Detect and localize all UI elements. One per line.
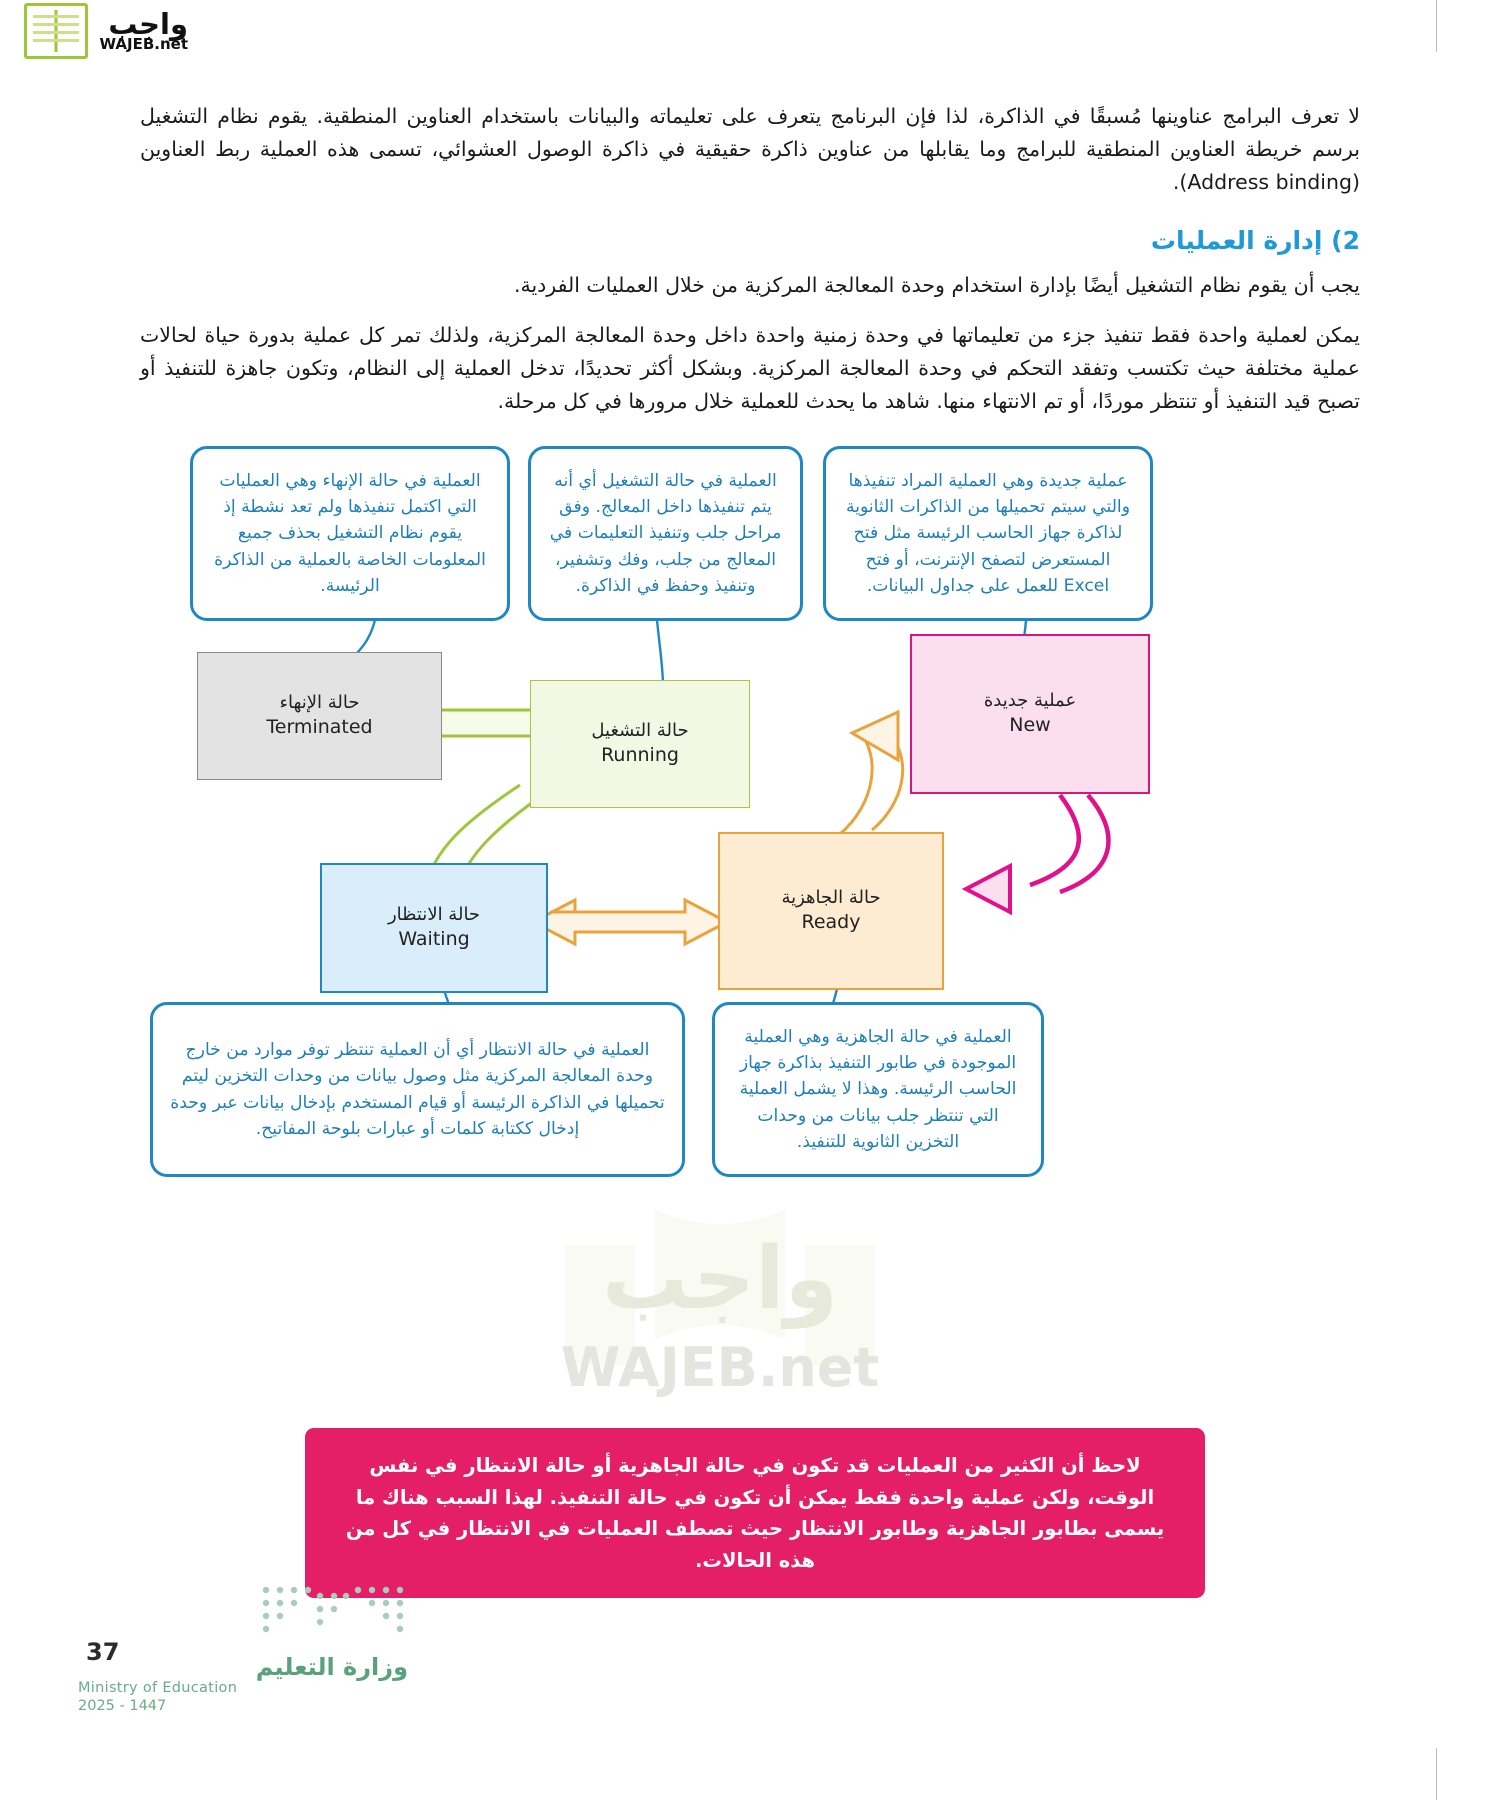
ministry-footer: وزارة التعليم Ministry of Education 2025… [78,1582,408,1714]
open-book-icon [24,3,88,59]
svg-text:WAJEB.net: WAJEB.net [561,1336,879,1399]
margin-rule-bottom [1436,1748,1437,1800]
ready-callout-text: العملية في حالة الجاهزية وهي العملية الم… [731,1024,1025,1155]
arrow-new-to-ready [966,795,1108,912]
state-new-label-en: New [1009,713,1050,739]
waiting-callout: العملية في حالة الانتظار أي أن العملية ت… [150,1002,685,1177]
state-terminated-label-en: Terminated [266,715,372,741]
state-box-terminated: حالة الإنهاء Terminated [197,652,442,780]
margin-rule-top [1436,0,1437,52]
terminated-callout-text: العملية في حالة الإنهاء وهي العمليات الت… [209,468,491,599]
textbook-page: واجب WAJEB.net لا تعرف البرامج عناوينها … [0,0,1500,1800]
ministry-year: 2025 - 1447 [78,1698,408,1714]
page-content: لا تعرف البرامج عناوينها مُسبقًا في الذا… [140,100,1360,435]
paragraph-address-binding: لا تعرف البرامج عناوينها مُسبقًا في الذا… [140,100,1360,200]
wajeb-wordmark: واجب WAJEB.net [94,8,196,54]
running-callout-text: العملية في حالة التشغيل أي أنه يتم تنفيذ… [547,468,784,599]
new-callout: عملية جديدة وهي العملية المراد تنفيذها و… [823,446,1153,621]
state-box-ready: حالة الجاهزية Ready [718,832,944,990]
state-running-label-en: Running [601,743,679,769]
paragraph-cpu-management: يجب أن يقوم نظام التشغيل أيضًا بإدارة اس… [140,269,1360,302]
paragraph-process-lifecycle: يمكن لعملية واحدة فقط تنفيذ جزء من تعليم… [140,319,1360,419]
wajeb-brand-logo: واجب WAJEB.net [0,0,200,62]
state-ready-label-en: Ready [802,910,861,936]
note-banner-text: لاحظ أن الكثير من العمليات قد تكون في حا… [346,1454,1164,1572]
running-callout: العملية في حالة التشغيل أي أنه يتم تنفيذ… [528,446,803,621]
state-waiting-label-en: Waiting [398,927,469,953]
ministry-dots-logo [258,1582,408,1644]
state-new-label-ar: عملية جديدة [984,689,1076,713]
process-state-diagram: واجب WAJEB.net [0,430,1500,1260]
state-box-waiting: حالة الانتظار Waiting [320,863,548,993]
state-waiting-label-ar: حالة الانتظار [388,903,480,927]
ministry-name-ar: وزارة التعليم [78,1654,408,1680]
new-callout-text: عملية جديدة وهي العملية المراد تنفيذها و… [842,468,1134,599]
state-box-running: حالة التشغيل Running [530,680,750,808]
note-banner: لاحظ أن الكثير من العمليات قد تكون في حا… [305,1428,1205,1598]
terminated-callout: العملية في حالة الإنهاء وهي العمليات الت… [190,446,510,621]
leader-running [657,620,663,686]
waiting-callout-text: العملية في حالة الانتظار أي أن العملية ت… [169,1037,666,1142]
ministry-name-en: Ministry of Education [78,1680,408,1696]
state-box-new: عملية جديدة New [910,634,1150,794]
state-running-label-ar: حالة التشغيل [591,719,688,743]
arrow-ready-to-running [840,712,903,834]
ready-callout: العملية في حالة الجاهزية وهي العملية الم… [712,1002,1044,1177]
wajeb-wordmark-latin: WAJEB.net [100,37,188,52]
state-terminated-label-ar: حالة الإنهاء [280,691,360,715]
state-ready-label-ar: حالة الجاهزية [781,886,880,910]
arrow-ready-waiting-bidirectional [533,900,727,944]
section-heading-process-management: 2) إدارة العمليات [140,226,1360,255]
